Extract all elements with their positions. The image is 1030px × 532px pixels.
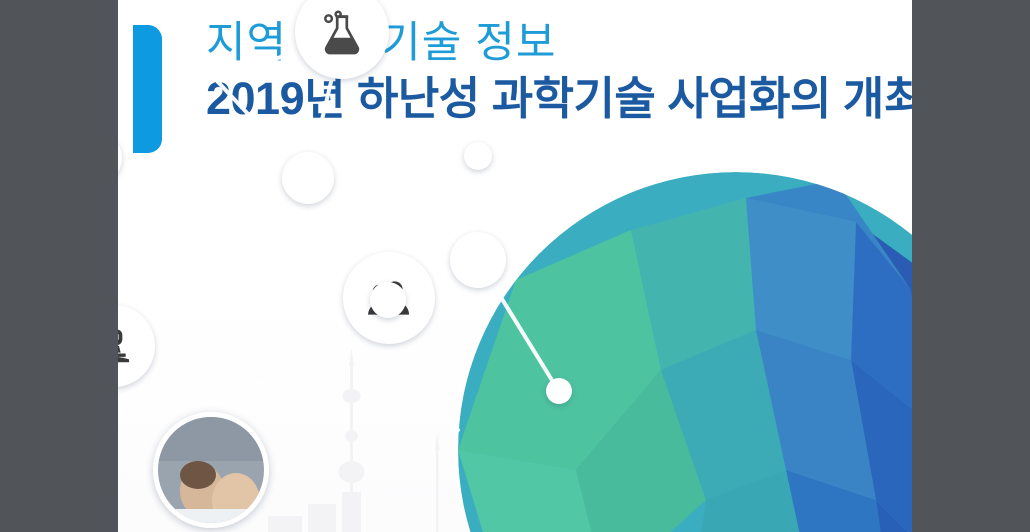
accent-bar	[133, 25, 162, 153]
title-block: 지역 과학기술 정보 2019년 하난성 과학기술 사업화의 개최	[206, 18, 896, 124]
researcher-photo-node	[153, 412, 269, 528]
document-page: 지역 과학기술 정보 2019년 하난성 과학기술 사업화의 개최	[118, 0, 912, 532]
people-icon	[368, 279, 410, 317]
network-node-dot	[450, 232, 506, 288]
low-poly-globe	[456, 170, 912, 532]
network-node-dot	[370, 282, 406, 318]
page-header: 지역 과학기술 정보 2019년 하난성 과학기술 사업화의 개최	[118, 0, 912, 185]
people-node	[343, 252, 435, 344]
left-gutter	[0, 0, 118, 532]
page-subtitle: 2019년 하난성 과학기술 사업화의 개최	[206, 73, 896, 125]
city-skyline-silhouette	[118, 332, 588, 532]
document-viewer: 지역 과학기술 정보 2019년 하난성 과학기술 사업화의 개최	[0, 0, 1030, 532]
researcher-photo	[158, 417, 264, 523]
right-gutter	[912, 0, 1030, 532]
microscope-node	[118, 305, 155, 387]
microscope-icon	[118, 326, 134, 366]
network-node-dot	[546, 378, 572, 404]
globe-graphic	[456, 170, 912, 532]
page-title: 지역 과학기술 정보	[206, 18, 896, 69]
